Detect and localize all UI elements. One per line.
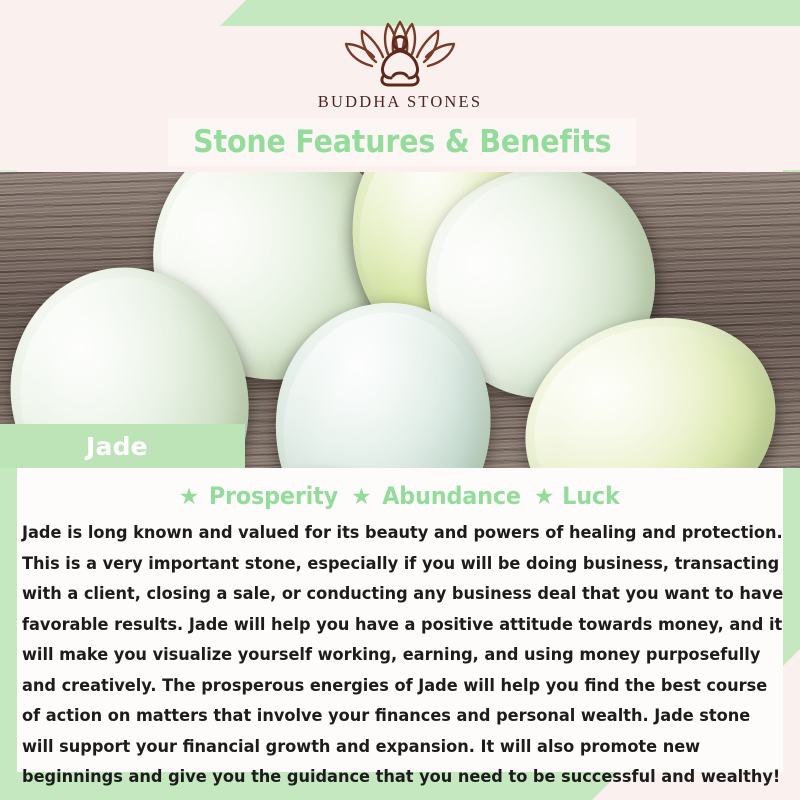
stone-info-card: BUDDHA STONES Stone Features & Benefits … — [0, 0, 800, 800]
benefit-label: Luck — [562, 482, 619, 510]
lotus-meditation-icon — [340, 18, 460, 90]
star-icon: ★ — [534, 485, 555, 508]
benefit-item-prosperity: ★ Prosperity — [179, 482, 343, 510]
title-banner: Stone Features & Benefits — [168, 118, 636, 166]
benefit-item-luck: ★ Luck — [534, 482, 621, 510]
benefits-row: ★ Prosperity ★ Abundance ★ Luck — [17, 468, 783, 514]
benefit-label: Prosperity — [209, 482, 338, 510]
content-panel: ★ Prosperity ★ Abundance ★ Luck Jade is … — [17, 468, 783, 772]
benefit-item-abundance: ★ Abundance — [351, 482, 526, 510]
stone-name-text: Jade — [86, 432, 148, 461]
stone-description: Jade is long known and valued for its be… — [22, 518, 787, 793]
stone-name-label: Jade — [0, 424, 245, 468]
star-icon: ★ — [351, 485, 372, 508]
brand-logo-block: BUDDHA STONES — [0, 18, 800, 112]
benefit-label: Abundance — [382, 482, 521, 510]
page-title: Stone Features & Benefits — [193, 127, 611, 158]
brand-name: BUDDHA STONES — [0, 92, 800, 112]
star-icon: ★ — [179, 485, 200, 508]
